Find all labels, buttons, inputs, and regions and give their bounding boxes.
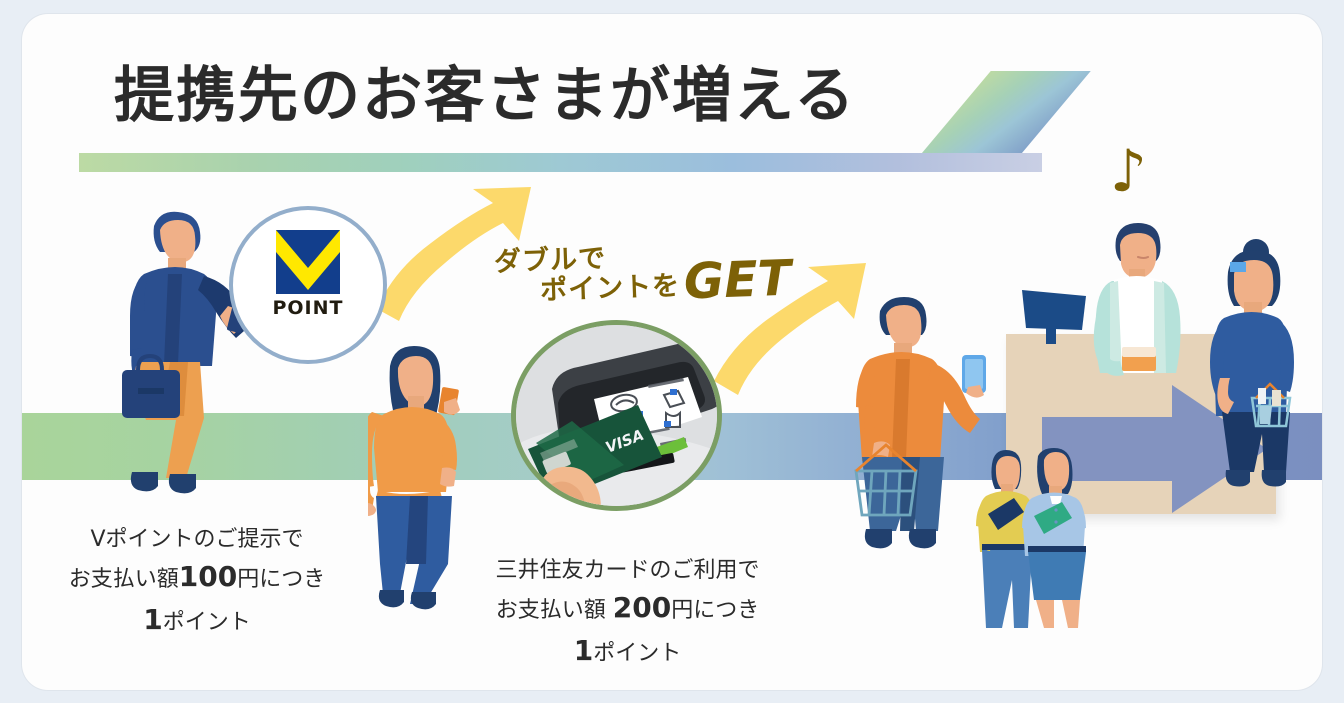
shopper-with-basket-illustration <box>1200 238 1300 504</box>
headline-line2: ポイントを GET <box>539 256 792 311</box>
vpoint-chevron-icon <box>276 230 340 294</box>
caption-left-line2-suffix: 円につき <box>237 567 325 592</box>
caption-left-points: 1 <box>143 603 162 636</box>
headline-get-text: GET <box>683 256 792 306</box>
caption-center-line2: お支払い額 200円につき <box>450 587 805 630</box>
banner-card: 提携先のお客さまが増える <box>22 14 1322 690</box>
vpoint-logo-label: POINT <box>266 297 350 319</box>
page-background: 提携先のお客さまが増える <box>0 0 1344 703</box>
caption-left-line3: 1ポイント <box>32 599 362 642</box>
page-title: 提携先のお客さまが増える <box>114 66 856 126</box>
payment-terminal-photo: VISA <box>511 320 722 511</box>
headline-line2-jp: ポイントを <box>539 263 680 311</box>
terminal-illustration: VISA <box>516 325 722 511</box>
caption-center-amount: 200 <box>613 591 671 624</box>
caption-center-points: 1 <box>574 634 593 667</box>
music-note-icon: ♪ <box>1110 142 1147 200</box>
caption-left-line2-prefix: お支払い額 <box>69 567 179 592</box>
caption-center-points-suffix: ポイント <box>593 641 681 666</box>
title-underline-bar <box>79 153 1042 172</box>
caption-center-line3: 1ポイント <box>450 630 805 673</box>
caption-left-line1: Vポイントのご提示で <box>32 523 362 556</box>
caption-center-line1: 三井住友カードのご利用で <box>450 554 805 587</box>
caption-center: 三井住友カードのご利用で お支払い額 200円につき 1ポイント <box>450 554 805 673</box>
caption-left-line2: お支払い額100円につき <box>32 556 362 599</box>
caption-left-points-suffix: ポイント <box>163 610 251 635</box>
caption-left: Vポイントのご提示で お支払い額100円につき 1ポイント <box>32 523 362 642</box>
caption-center-line2-prefix: お支払い額 <box>496 598 613 623</box>
store-clerk-illustration <box>1082 221 1192 396</box>
caption-center-line2-suffix: 円につき <box>671 598 759 623</box>
caption-left-amount: 100 <box>179 560 237 593</box>
